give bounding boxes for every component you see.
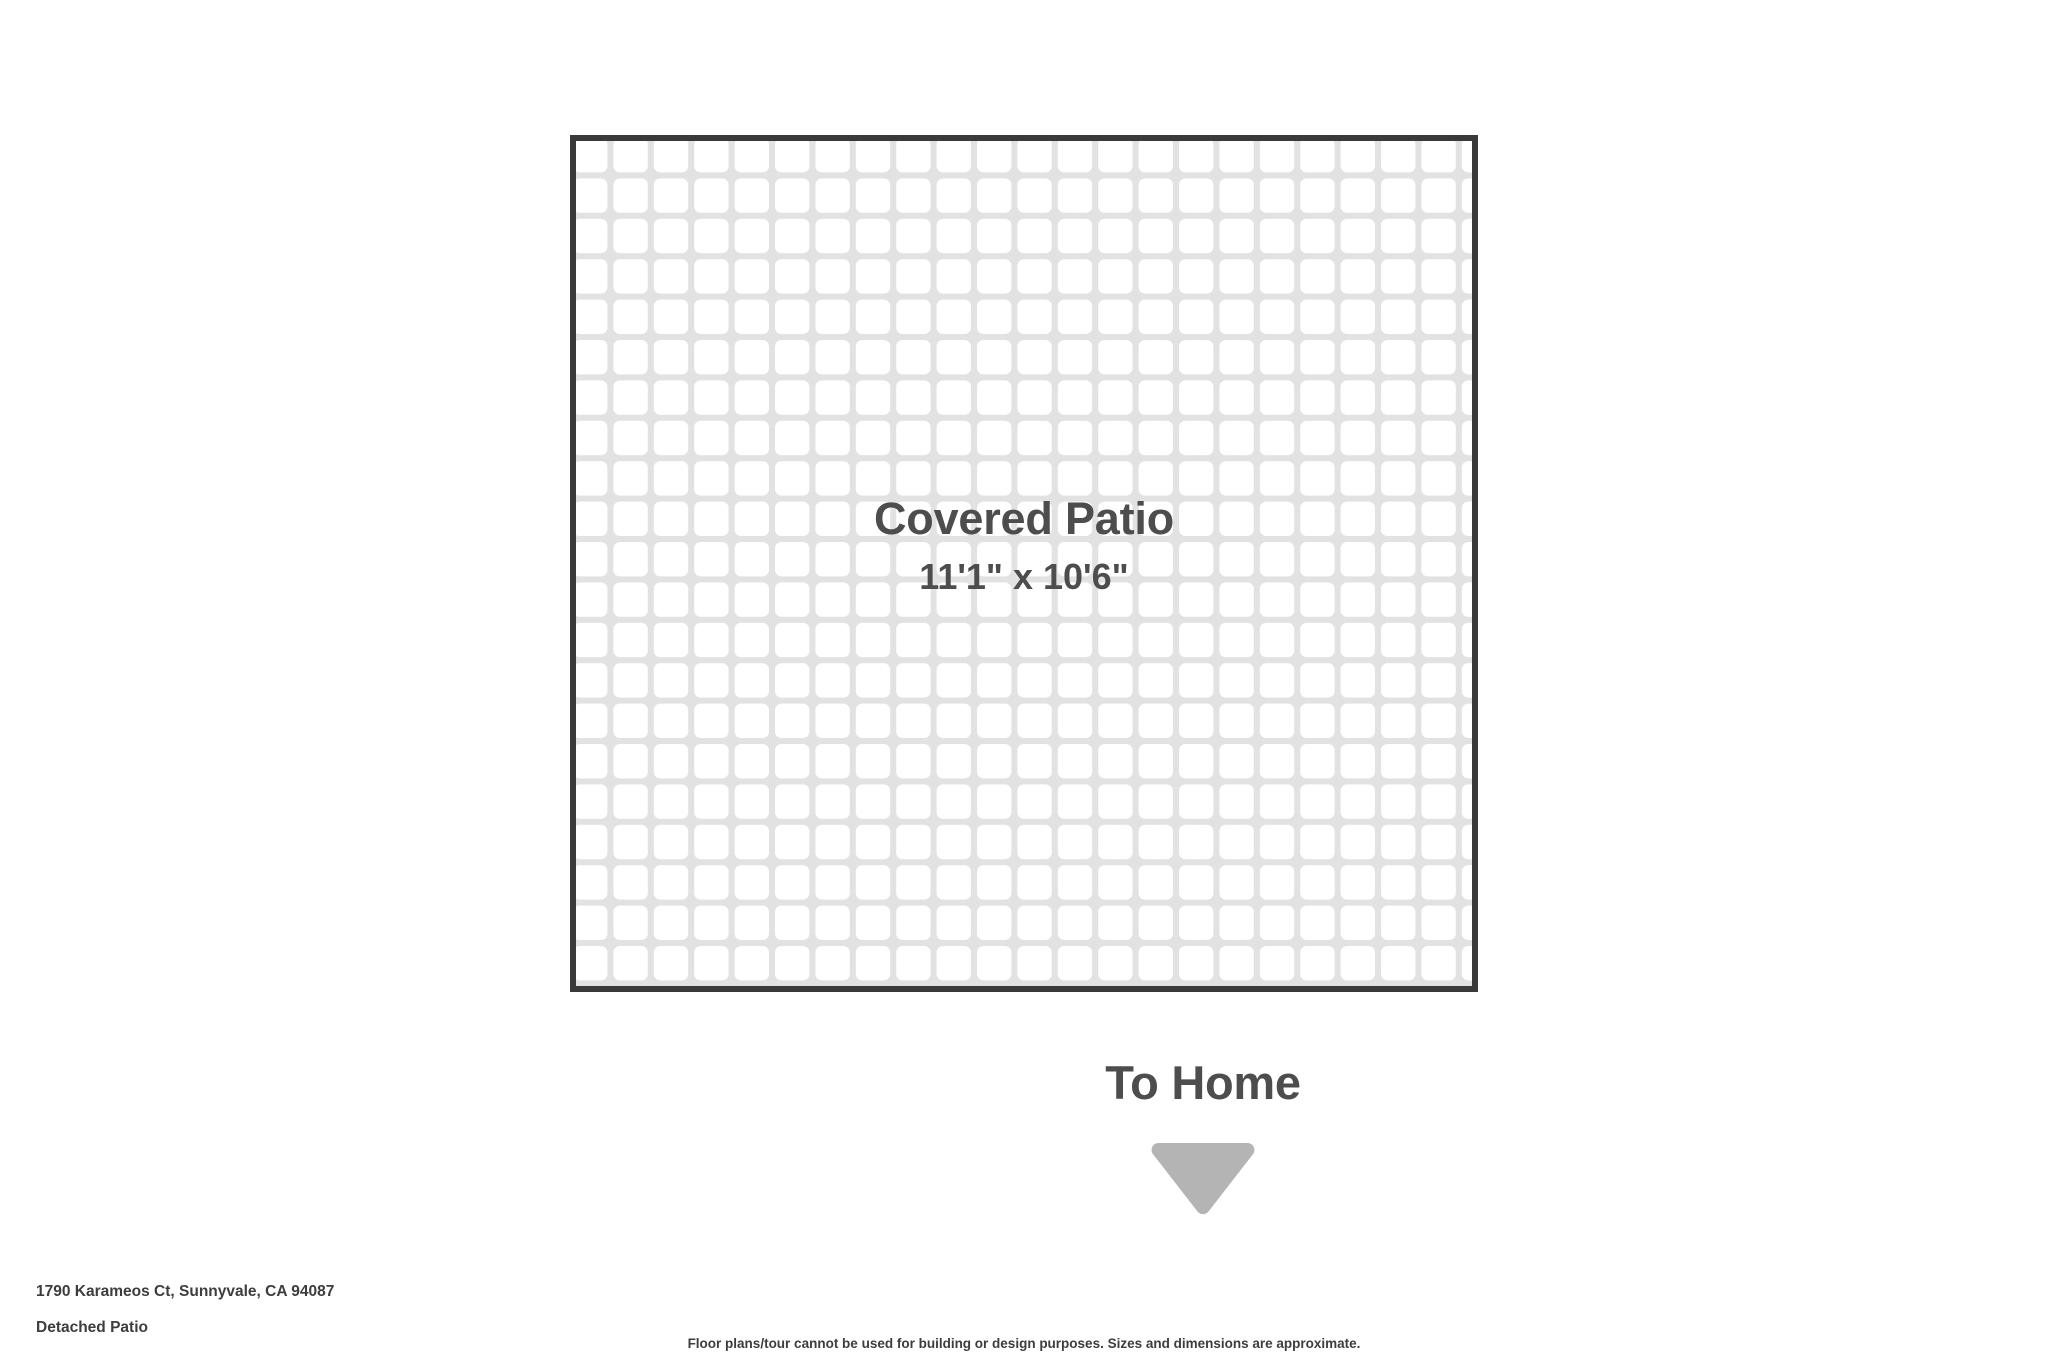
- triangle-down-icon[interactable]: [1151, 1140, 1255, 1216]
- disclaimer-text: Floor plans/tour cannot be used for buil…: [0, 1337, 2048, 1351]
- floor-tile-grout-lines: [570, 135, 1478, 992]
- property-address: 1790 Karameos Ct, Sunnyvale, CA 94087: [36, 1284, 334, 1300]
- floor-plan-canvas: Covered Patio 11'1" x 10'6" To Home: [0, 0, 2048, 1365]
- plan-name: Detached Patio: [36, 1320, 334, 1336]
- room-covered-patio[interactable]: [570, 135, 1478, 992]
- property-info: 1790 Karameos Ct, Sunnyvale, CA 94087 De…: [36, 1284, 334, 1335]
- exit-label: To Home: [1003, 1057, 1403, 1109]
- exit-marker-to-home[interactable]: To Home: [1003, 1057, 1403, 1216]
